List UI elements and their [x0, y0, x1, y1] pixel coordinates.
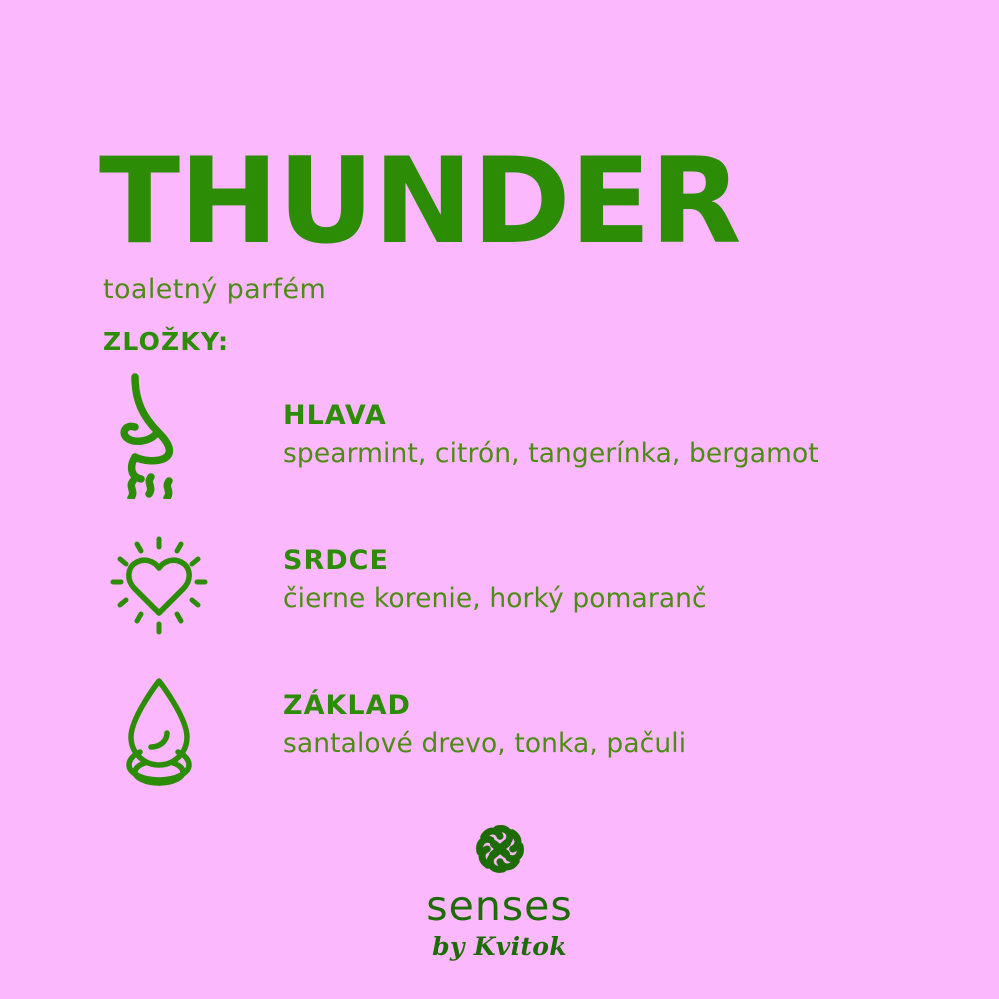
note-title: ZÁKLAD: [283, 690, 973, 721]
ingredients-label: ZLOŽKY:: [103, 327, 919, 356]
product-subtitle: toaletný parfém: [103, 274, 919, 305]
note-text-group: SRDCE čierne korenie, horký pomaranč: [283, 545, 973, 614]
list-item: ZÁKLAD santalové drevo, tonka, pačuli: [0, 658, 999, 803]
note-text-group: HLAVA spearmint, citrón, tangerínka, ber…: [283, 400, 973, 469]
fragrance-notes-list: HLAVA spearmint, citrón, tangerínka, ber…: [0, 368, 999, 803]
list-item: HLAVA spearmint, citrón, tangerínka, ber…: [0, 368, 999, 513]
brand-block: senses by Kvitok: [0, 818, 999, 959]
page-title: THUNDER: [99, 143, 919, 262]
radiant-heart-icon: [104, 521, 214, 651]
brand-byline: by Kvitok: [0, 934, 999, 959]
brand-name: senses: [0, 886, 999, 927]
note-items: čierne korenie, horký pomaranč: [283, 583, 973, 614]
note-title: SRDCE: [283, 545, 973, 576]
note-items: spearmint, citrón, tangerínka, bergamot: [283, 438, 973, 469]
note-text-group: ZÁKLAD santalové drevo, tonka, pačuli: [283, 690, 973, 759]
title-block: THUNDER toaletný parfém ZLOŽKY:: [99, 143, 919, 356]
note-title: HLAVA: [283, 400, 973, 431]
nose-icon: [104, 370, 214, 500]
list-item: SRDCE čierne korenie, horký pomaranč: [0, 513, 999, 658]
senses-rosette-logo-icon: [469, 818, 531, 880]
perfume-product-card: THUNDER toaletný parfém ZLOŽKY:: [0, 0, 999, 999]
note-items: santalové drevo, tonka, pačuli: [283, 728, 973, 759]
droplet-ripple-icon: [104, 666, 214, 796]
